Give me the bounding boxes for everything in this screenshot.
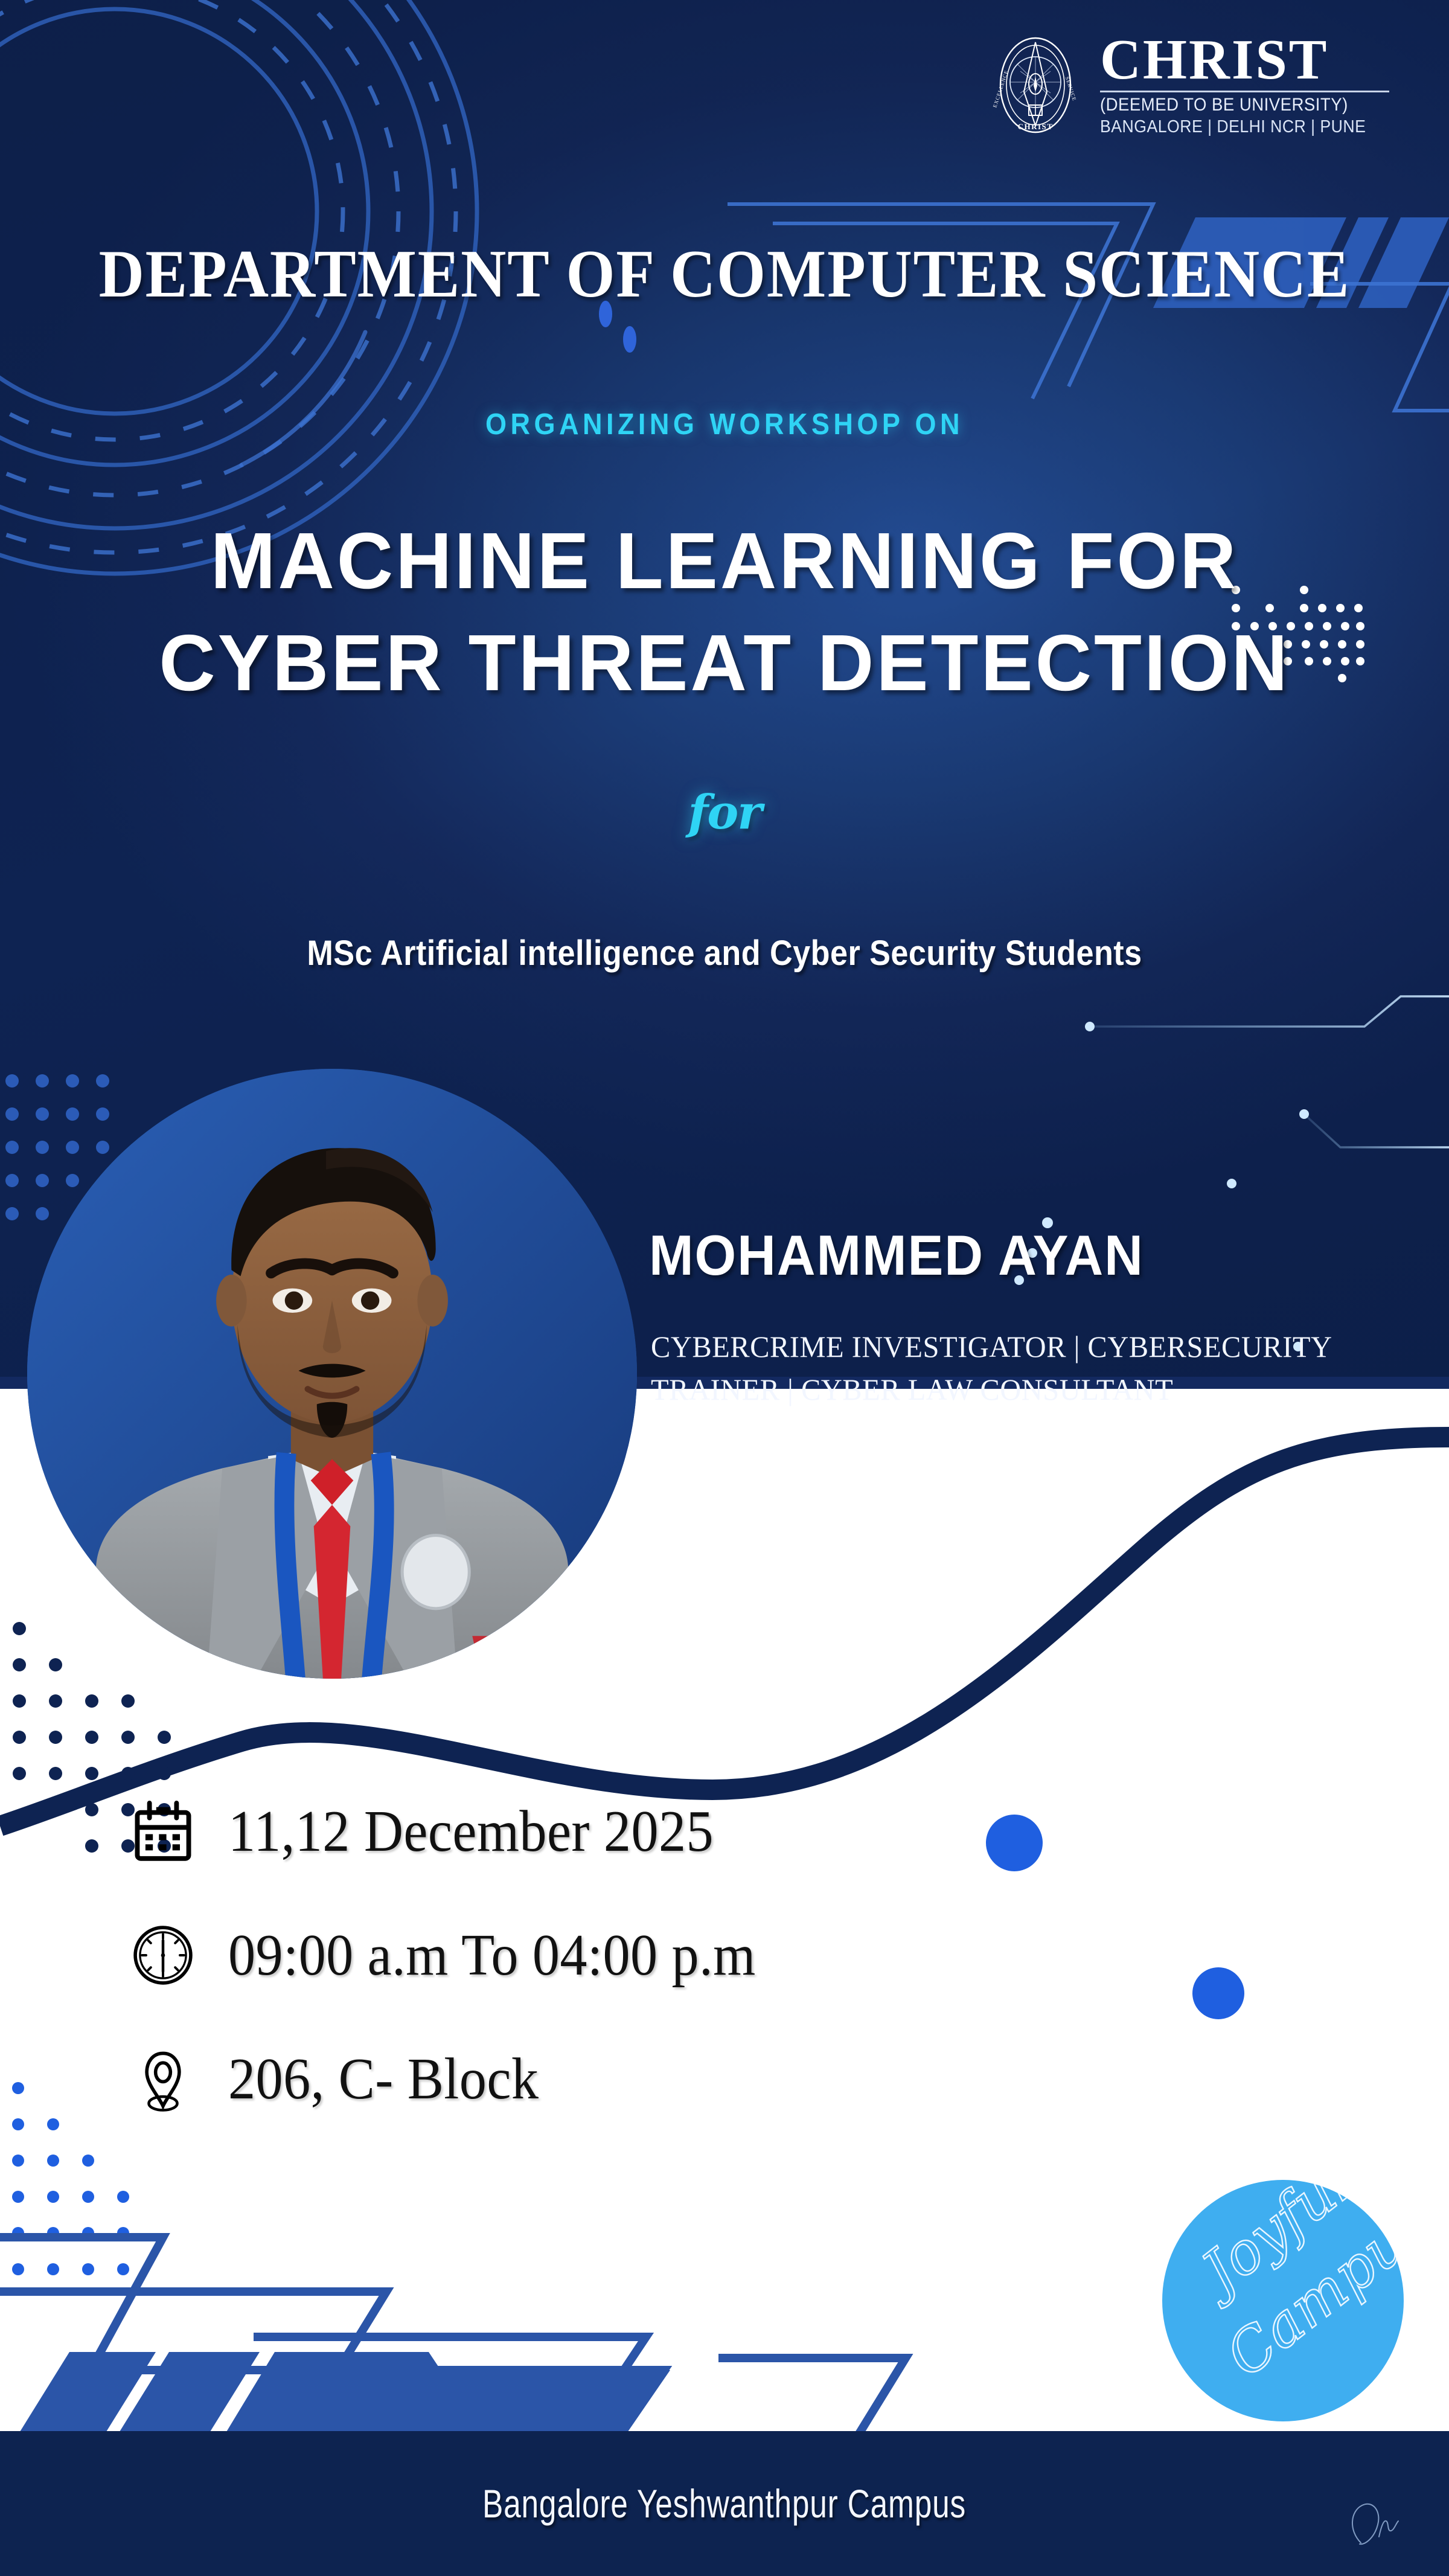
accent-dot-small — [1192, 1967, 1244, 2019]
university-logo: CHRIST EXCELLENCE SERVICE CHRIST (DEEMED… — [984, 33, 1389, 137]
logo-subtitle: (DEEMED TO BE UNIVERSITY) — [1100, 95, 1366, 115]
workshop-poster: CHRIST EXCELLENCE SERVICE CHRIST (DEEMED… — [0, 0, 1449, 2576]
detail-row-date: 11,12 December 2025 — [127, 1769, 1032, 1893]
joyful-campus-script: Joyful Campus — [1162, 2180, 1404, 2421]
speaker-portrait-illustration — [27, 1069, 637, 1679]
speaker-photo — [27, 1069, 637, 1679]
event-details: 11,12 December 2025 0 — [127, 1769, 1032, 2141]
detail-row-time: 09:00 a.m To 04:00 p.m — [127, 1893, 1032, 2017]
department-title: DEPARTMENT OF COMPUTER SCIENCE — [51, 235, 1398, 313]
audience-line: MSc Artificial intelligence and Cyber Se… — [72, 933, 1377, 973]
footer-campus-label: Bangalore Yeshwanthpur Campus — [482, 2481, 966, 2526]
joyful-campus-badge: Joyful Campus — [1162, 2180, 1404, 2421]
svg-text:SERVICE: SERVICE — [1064, 76, 1078, 102]
organizing-label: ORGANIZING WORKSHOP ON — [58, 408, 1391, 441]
cursive-monogram-icon — [1335, 2494, 1426, 2552]
headline-line-2: CYBER THREAT DETECTION — [14, 612, 1435, 714]
speaker-name: MOHAMMED AYAN — [649, 1223, 1144, 1288]
logo-wordmark: CHRIST — [1100, 33, 1389, 87]
accent-ellipses-decoration — [595, 296, 679, 374]
speaker-role-line-1: CYBERCRIME INVESTIGATOR | CYBERSECURITY — [651, 1325, 1371, 1368]
clock-icon — [127, 1919, 199, 1991]
footer-bar: Bangalore Yeshwanthpur Campus — [0, 2431, 1449, 2576]
logo-divider — [1100, 91, 1389, 92]
logo-campuses: BANGALORE | DELHI NCR | PUNE — [1100, 117, 1366, 137]
workshop-headline: MACHINE LEARNING FOR CYBER THREAT DETECT… — [0, 510, 1449, 714]
detail-text-time: 09:00 a.m To 04:00 p.m — [228, 1921, 756, 1989]
calendar-icon — [127, 1795, 199, 1868]
location-pin-icon — [127, 2043, 199, 2115]
detail-text-date: 11,12 December 2025 — [228, 1798, 714, 1865]
detail-text-venue: 206, C- Block — [228, 2045, 539, 2113]
headline-line-1: MACHINE LEARNING FOR — [14, 510, 1435, 612]
detail-row-venue: 206, C- Block — [127, 2017, 1032, 2141]
svg-text:CHRIST: CHRIST — [1018, 122, 1054, 131]
speaker-role: CYBERCRIME INVESTIGATOR | CYBERSECURITY … — [651, 1325, 1371, 1411]
speaker-role-line-2: TRAINER | CYBER LAW CONSULTANT — [651, 1368, 1371, 1411]
for-label: for — [0, 785, 1449, 840]
christ-emblem-icon: CHRIST EXCELLENCE SERVICE — [984, 34, 1087, 136]
